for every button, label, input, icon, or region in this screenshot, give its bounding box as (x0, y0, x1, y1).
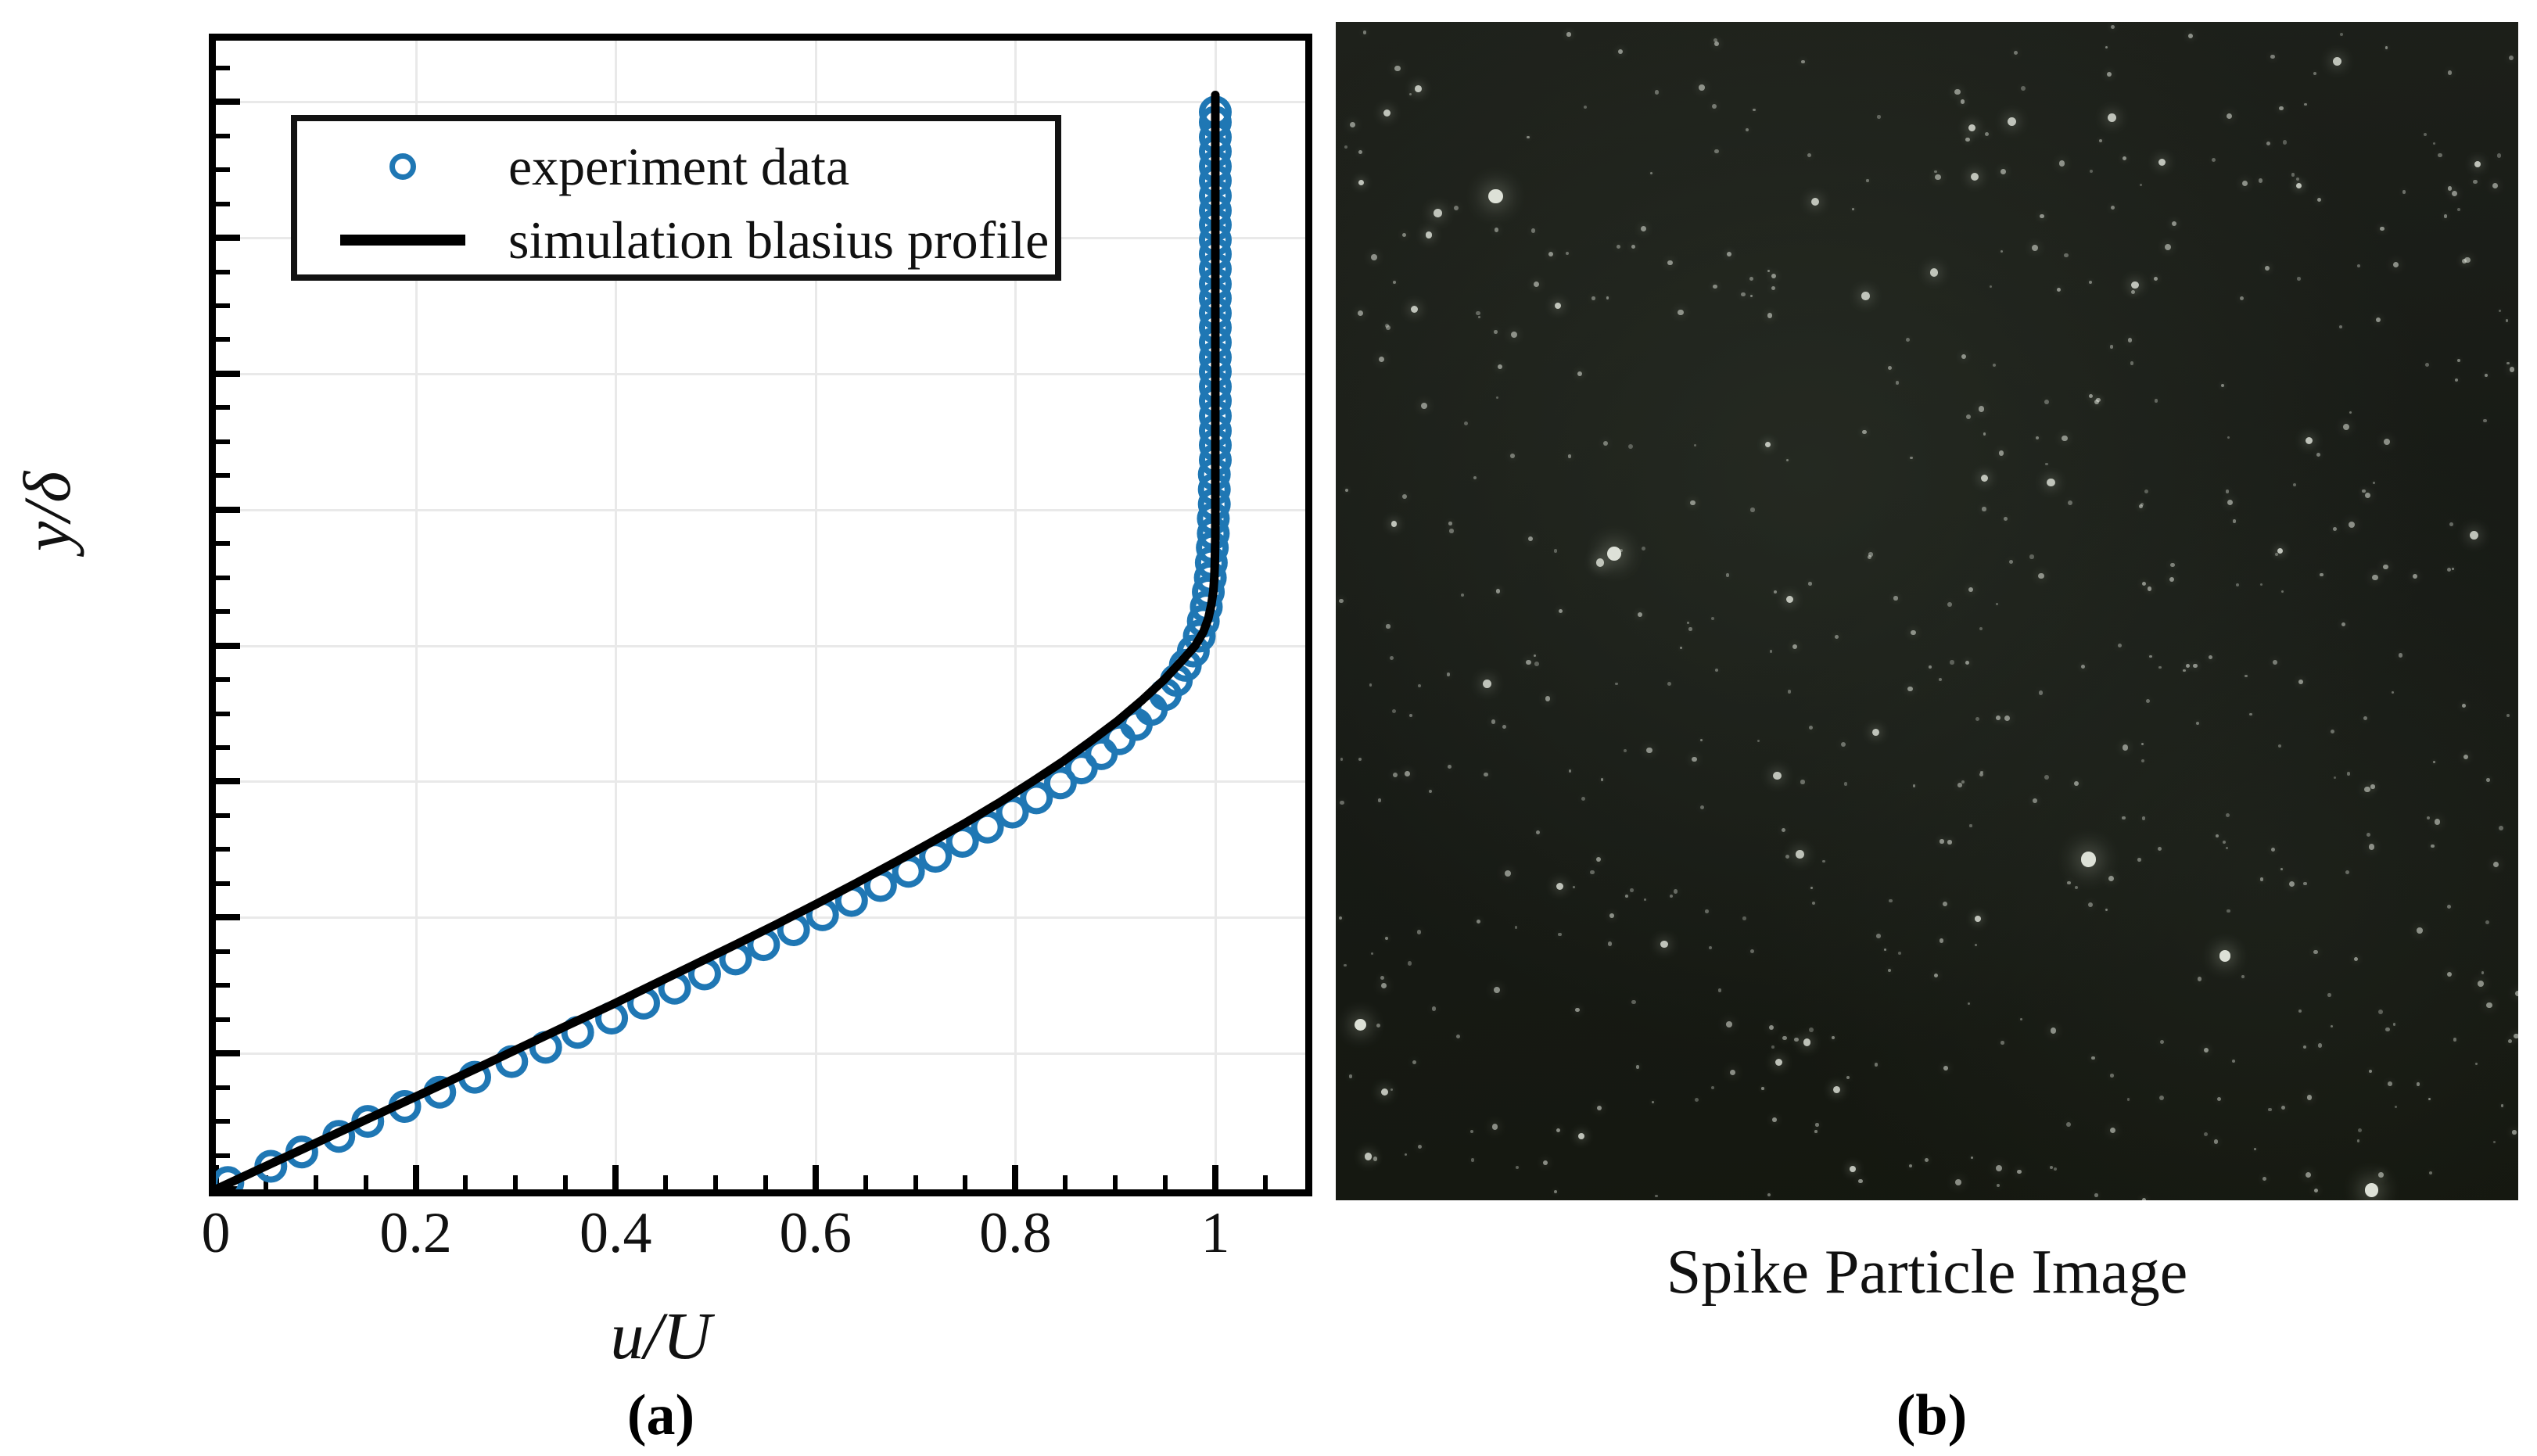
particle-speck (1909, 1164, 1912, 1167)
particle-speck (2449, 522, 2453, 526)
particle-speck (1929, 665, 1932, 669)
particle-speck (2081, 852, 2097, 867)
particle-speck (2089, 394, 2093, 398)
particle-speck (2204, 1132, 2208, 1136)
particle-speck (2281, 1106, 2285, 1110)
panel-caption-b: (b) (1896, 1382, 1967, 1449)
particle-speck (1609, 913, 1614, 918)
particle-speck (2318, 1043, 2322, 1047)
particle-speck (1822, 860, 1825, 863)
particle-speck (2413, 574, 2417, 579)
particle-speck (2131, 290, 2135, 294)
particle-speck (1940, 938, 1944, 943)
particle-speck (1495, 228, 1499, 232)
particle-speck (1996, 715, 2001, 720)
particle-speck (2066, 1122, 2071, 1127)
particle-speck (1591, 296, 1595, 300)
particle-speck (1569, 769, 1572, 773)
particle-speck (1943, 902, 1947, 906)
particle-speck (1386, 325, 1391, 330)
particle-speck (2349, 411, 2352, 414)
legend-item-simulation-profile: simulation blasius profile (297, 203, 1055, 278)
particle-speck (1405, 771, 1410, 776)
particle-speck (1898, 952, 1901, 955)
particle-speck (1957, 783, 1962, 787)
particle-speck (1934, 974, 1938, 977)
particle-speck (2141, 743, 2144, 745)
particle-speck (2304, 103, 2306, 106)
particle-speck (1861, 292, 1870, 300)
particle-speck (2096, 398, 2100, 402)
particle-speck (1402, 494, 1407, 499)
particle-speck (1968, 587, 1974, 593)
particle-speck (1788, 690, 1792, 694)
particle-speck (1371, 952, 1373, 955)
particle-speck (1624, 749, 1627, 752)
particle-speck (2009, 560, 2013, 564)
particle-speck (1432, 1006, 1437, 1011)
particle-speck (1947, 602, 1952, 607)
particle-speck (2303, 882, 2307, 886)
particle-speck (1674, 889, 1678, 894)
solid-line-marker-icon (297, 235, 508, 246)
particle-speck (1688, 627, 1692, 631)
particle-speck (2054, 1167, 2057, 1171)
particle-speck (2296, 183, 2302, 188)
particle-speck (1511, 332, 1517, 338)
particle-speck (2281, 590, 2284, 594)
particle-speck (1584, 106, 1588, 109)
particle-speck (2001, 250, 2003, 253)
particle-speck (2001, 1041, 2004, 1045)
particle-speck (2033, 798, 2037, 803)
particle-speck (1877, 115, 1881, 119)
particle-speck (1606, 296, 1609, 299)
particle-speck (2074, 781, 2079, 786)
particle-speck (1782, 828, 1786, 833)
particle-speck (1617, 245, 1620, 249)
particle-speck (2327, 993, 2331, 997)
particle-speck (1373, 1157, 1378, 1161)
particle-speck (2036, 436, 2039, 439)
particle-speck (2122, 816, 2125, 819)
particle-speck (1713, 38, 1717, 42)
particle-speck (1800, 780, 1804, 784)
particle-speck (2395, 1106, 2397, 1108)
particle-speck (1516, 1166, 1519, 1169)
particle-speck (2142, 816, 2146, 820)
particle-speck (1815, 1123, 1819, 1127)
particle-speck (2485, 374, 2488, 377)
particle-speck (2452, 191, 2457, 196)
particle-speck (2499, 826, 2503, 830)
particle-speck (2051, 1027, 2056, 1033)
particle-speck (2044, 400, 2049, 404)
particle-speck (1726, 573, 1730, 577)
particle-speck (1943, 1066, 1948, 1070)
particle-speck (1670, 895, 1673, 898)
particle-speck (2110, 345, 2114, 349)
particle-speck (2372, 575, 2378, 581)
particle-speck (2313, 950, 2318, 955)
particle-speck (2384, 439, 2390, 445)
particle-speck (1896, 381, 1899, 384)
particle-speck (1950, 660, 1954, 665)
particle-speck (1709, 946, 1712, 949)
particle-speck (2221, 384, 2224, 387)
particle-speck (1775, 1059, 1782, 1066)
image-background-gradient (1336, 22, 2518, 1200)
particle-speck (2270, 55, 2274, 59)
particle-speck (1625, 895, 1628, 898)
particle-speck (1596, 558, 1605, 567)
particle-speck (2144, 490, 2148, 493)
particle-speck (1990, 285, 1992, 288)
particle-speck (2306, 1172, 2311, 1178)
particle-speck (1448, 522, 1452, 525)
particle-speck (2233, 519, 2236, 522)
particle-speck (2334, 776, 2336, 779)
particle-speck (1534, 662, 1539, 666)
particle-speck (1955, 1179, 1961, 1185)
particle-speck (1993, 364, 1996, 367)
particle-speck (1534, 654, 1536, 657)
particle-speck (2001, 169, 2006, 174)
particle-speck (2358, 1128, 2362, 1132)
particle-speck (2369, 844, 2374, 849)
particle-speck (2148, 586, 2152, 591)
particle-speck (1448, 765, 1452, 769)
particle-speck (2280, 868, 2283, 870)
particle-speck (2303, 1045, 2306, 1049)
particle-speck (1340, 801, 1344, 805)
particle-speck (2130, 361, 2133, 364)
particle-speck (2378, 1172, 2384, 1178)
particle-speck (1483, 680, 1491, 688)
particle-speck (2402, 190, 2406, 194)
particle-speck (1386, 624, 1390, 628)
particle-speck (1792, 644, 1797, 649)
particle-speck (1494, 330, 1498, 334)
particle-speck (2241, 975, 2245, 978)
particle-speck (1536, 830, 1540, 834)
particle-speck (1968, 1002, 1970, 1005)
particle-speck (1771, 286, 1775, 290)
particle-speck (1761, 1087, 1764, 1090)
particle-speck (1628, 444, 1633, 449)
particle-speck (2165, 244, 2171, 250)
particle-speck (2123, 744, 2128, 750)
particle-speck (2094, 1193, 2098, 1197)
particle-speck (1786, 596, 1793, 603)
particle-speck (1646, 748, 1652, 754)
particle-speck (2170, 563, 2174, 567)
particle-speck (1429, 790, 1432, 793)
particle-speck (1850, 1166, 1856, 1172)
particle-speck (1515, 926, 1517, 928)
particle-speck (2492, 183, 2498, 188)
particle-speck (1796, 850, 1804, 859)
particle-speck (1742, 916, 1746, 920)
particle-speck (1773, 772, 1782, 780)
particle-speck (1808, 582, 1812, 586)
particle-speck (1687, 622, 1689, 624)
particle-speck (2388, 1081, 2392, 1086)
particle-speck (2340, 33, 2343, 36)
particle-speck (1969, 824, 1972, 827)
particle-speck (1391, 521, 1398, 527)
particle-speck (2075, 886, 2078, 889)
particle-speck (2316, 453, 2320, 457)
particle-speck (1505, 870, 1511, 877)
particle-speck (1478, 316, 1480, 318)
particle-speck (1655, 1195, 1657, 1197)
particle-speck (2457, 359, 2460, 362)
particle-speck (2236, 583, 2239, 586)
particle-speck (2497, 153, 2501, 157)
particle-speck (2158, 159, 2166, 166)
particle-speck (1510, 454, 1515, 458)
particle-speck (1566, 32, 1571, 37)
particle-speck (1772, 1117, 1777, 1122)
particle-speck (1456, 1035, 1460, 1038)
particle-speck (1954, 89, 1960, 95)
particle-speck (1608, 941, 1613, 946)
particle-speck (2021, 86, 2026, 91)
particle-speck (1876, 934, 1881, 938)
particle-speck (1934, 170, 1936, 173)
particle-speck (1812, 902, 1815, 905)
particle-speck (1713, 285, 1717, 289)
particle-speck (2146, 699, 2150, 703)
particle-speck (1893, 596, 1897, 600)
particle-speck (1488, 189, 1502, 203)
particle-speck (2357, 1139, 2360, 1142)
open-circle-marker-icon (297, 153, 508, 180)
particle-speck (2339, 325, 2342, 328)
particle-speck (2275, 553, 2278, 556)
particle-speck (1726, 1021, 1732, 1027)
particle-speck (2486, 1002, 2492, 1009)
particle-speck (2111, 25, 2115, 29)
particle-speck (1767, 313, 1773, 318)
particle-speck (2214, 1139, 2219, 1144)
particle-speck (2245, 675, 2248, 678)
particle-speck (2204, 1048, 2209, 1053)
particle-speck (2289, 881, 2295, 887)
particle-speck (1597, 1106, 1602, 1110)
particle-speck (1365, 1153, 1372, 1160)
particle-speck (2307, 1095, 2313, 1100)
particle-speck (1711, 1086, 1714, 1089)
particle-speck (2159, 1096, 2164, 1100)
particle-speck (2385, 46, 2388, 49)
particle-speck (1355, 1019, 1366, 1031)
particle-speck (2506, 319, 2509, 322)
particle-speck (1961, 99, 1965, 104)
particle-speck (2512, 1130, 2517, 1135)
particle-speck (2501, 1104, 2504, 1107)
particle-speck (1358, 150, 1362, 154)
legend-label-simulation-profile: simulation blasius profile (508, 210, 1049, 271)
particle-speck (2050, 1166, 2053, 1169)
particle-speck (1981, 475, 1988, 482)
particle-speck (2453, 1038, 2457, 1042)
particle-speck (2004, 715, 2010, 721)
particle-speck (1596, 857, 1601, 862)
particle-speck (1862, 430, 1866, 434)
particle-speck (2068, 500, 2072, 505)
particle-speck (2131, 282, 2139, 289)
particle-speck (2447, 568, 2451, 572)
particle-speck (1782, 1036, 1786, 1040)
particle-speck (1573, 886, 1575, 888)
particle-speck (1390, 656, 1394, 660)
particle-speck (1771, 1045, 1774, 1049)
particle-speck (1814, 1130, 1818, 1133)
particle-speck (1554, 1190, 1557, 1193)
particle-speck (1833, 1086, 1840, 1093)
particle-speck (1631, 1000, 1635, 1004)
particle-speck (2160, 1040, 2164, 1044)
particle-speck (2193, 664, 2197, 668)
particle-speck (1447, 672, 1451, 676)
particle-speck (1715, 669, 1718, 672)
particle-speck (1872, 729, 1879, 736)
particle-speck (1753, 109, 1756, 112)
particle-speck (2059, 160, 2065, 166)
particle-speck (2081, 665, 2085, 669)
particle-speck (1461, 594, 1464, 597)
particle-speck (2417, 927, 2423, 934)
particle-speck (2088, 902, 2093, 907)
particle-speck (1975, 717, 1979, 721)
particle-speck (2515, 991, 2518, 996)
particle-speck (1655, 90, 1660, 95)
particle-speck (1383, 109, 1391, 117)
particle-speck (1590, 870, 1595, 875)
particle-speck (2004, 517, 2008, 521)
particle-speck (2111, 206, 2115, 210)
particle-speck (1940, 839, 1943, 843)
particle-speck (2047, 479, 2054, 486)
particle-speck (2273, 660, 2277, 665)
particle-speck (1852, 208, 1854, 210)
particle-speck (2029, 554, 2034, 559)
particle-speck (2447, 905, 2451, 909)
particle-speck (2108, 113, 2116, 122)
particle-speck (1803, 1038, 1811, 1046)
particle-speck (1339, 599, 1343, 603)
particle-speck (2365, 1183, 2379, 1197)
particle-speck (1449, 529, 1454, 533)
particle-speck (2370, 784, 2375, 789)
particle-speck (1369, 683, 1372, 686)
particle-speck (2219, 950, 2231, 962)
particle-speck (1494, 987, 1500, 993)
particle-speck (1982, 507, 1986, 511)
particle-speck (1349, 1074, 1353, 1078)
particle-speck (1935, 174, 1940, 180)
particle-speck (1832, 1036, 1835, 1039)
particle-speck (1884, 949, 1886, 951)
particle-speck (1750, 507, 1755, 512)
particle-speck (2091, 1056, 2095, 1060)
particle-speck (1965, 138, 1969, 142)
particle-speck (1975, 916, 1981, 922)
particle-speck (1426, 231, 1433, 238)
particle-speck (1345, 489, 1348, 492)
particle-speck (2438, 153, 2442, 157)
particle-speck (2297, 277, 2301, 281)
particle-speck (1502, 725, 1506, 729)
particle-speck (1711, 617, 1714, 620)
particle-speck (1770, 650, 1773, 653)
particle-speck (2486, 778, 2490, 782)
particle-speck (2462, 259, 2467, 264)
particle-speck (1979, 627, 1983, 630)
particle-speck (2008, 117, 2016, 126)
particle-speck (2227, 909, 2230, 913)
spike-particle-image (1336, 22, 2518, 1200)
particle-speck (1695, 1098, 1699, 1102)
particle-speck (1641, 226, 1646, 231)
particle-speck (1393, 773, 1398, 777)
particle-speck (2514, 1034, 2518, 1039)
particle-speck (2429, 1171, 2432, 1174)
particle-speck (2431, 845, 2435, 848)
particle-speck (1888, 969, 1891, 972)
particle-speck (2137, 858, 2141, 862)
particle-speck (2444, 214, 2448, 218)
particle-speck (2062, 436, 2068, 442)
particle-speck (2142, 1198, 2146, 1200)
particle-speck (1381, 1088, 1388, 1096)
particle-speck (1434, 209, 1442, 217)
particle-speck (1939, 678, 1942, 681)
legend: experiment data simulation blasius profi… (291, 115, 1061, 281)
particle-speck (2038, 573, 2044, 579)
particle-speck (1910, 457, 1913, 460)
particle-speck (1907, 687, 1913, 692)
particle-speck (2249, 713, 2252, 716)
particle-speck (1858, 1179, 1862, 1183)
particle-speck (2448, 186, 2453, 191)
particle-speck (1699, 84, 1705, 91)
particle-speck (1835, 635, 1839, 639)
particle-speck (1630, 888, 1634, 892)
particle-speck (2483, 419, 2486, 422)
particle-speck (1809, 1027, 1814, 1032)
particle-speck (1889, 899, 1893, 903)
particle-speck (1568, 454, 1572, 458)
particle-speck (1556, 1128, 1560, 1132)
particle-speck (2105, 909, 2108, 911)
particle-speck (1380, 976, 1384, 980)
particle-speck (2364, 787, 2370, 793)
particle-speck (1531, 228, 1535, 232)
particle-speck (2298, 680, 2303, 684)
particle-speck (2455, 378, 2458, 382)
figure-root: y/δ 00.20.40.60.811.21.41.6 00.20.40.60.… (0, 0, 2537, 1456)
particle-speck (2376, 317, 2381, 322)
particle-speck (2017, 1170, 2022, 1174)
particle-speck (1692, 757, 1697, 762)
particle-speck (1718, 988, 1722, 992)
legend-item-experiment-data: experiment data (297, 129, 1055, 204)
legend-label-experiment-data: experiment data (508, 136, 849, 198)
particle-speck (2298, 1010, 2302, 1013)
